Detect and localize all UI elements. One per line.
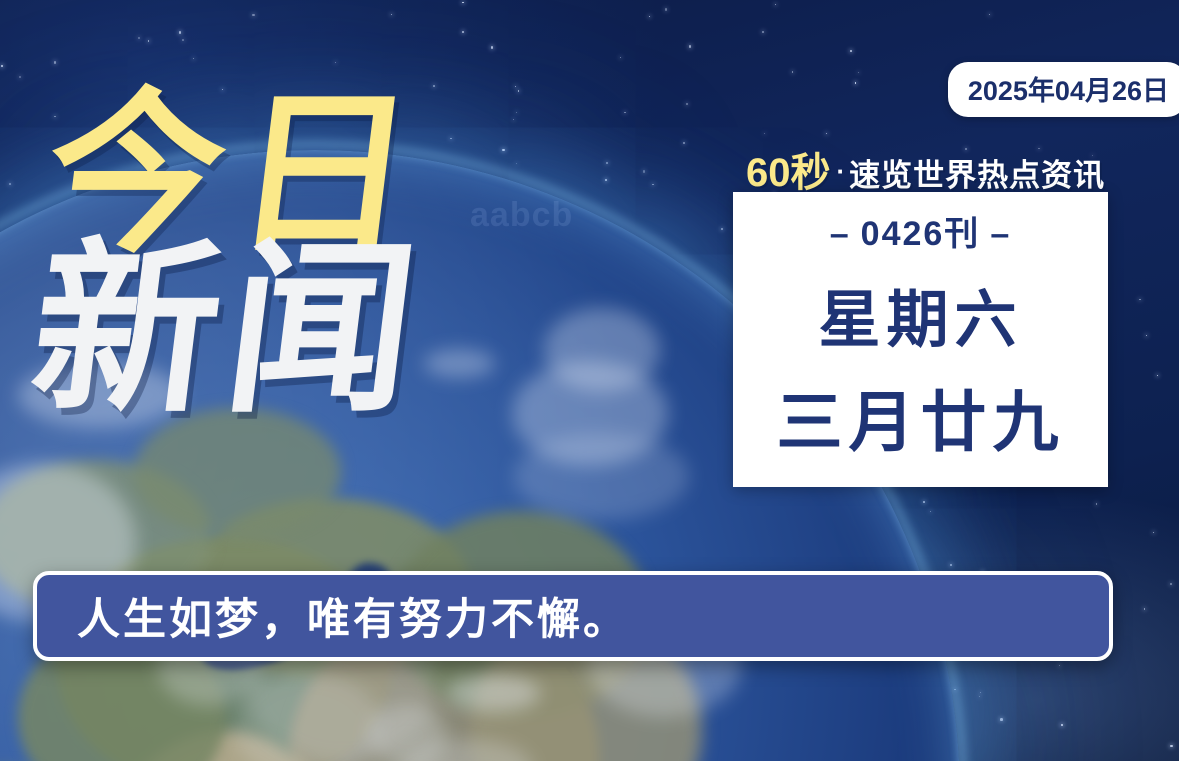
date-badge: 2025年04月26日 <box>948 62 1179 117</box>
quote-text: 人生如梦，唯有努力不懈。 <box>77 585 629 647</box>
tagline: 60秒·速览世界热点资讯 <box>746 140 1105 198</box>
tagline-description: 速览世界热点资讯 <box>849 158 1105 193</box>
issue-dash-right: – <box>990 215 1011 253</box>
poster-canvas: aabcb 2025年04月26日 今日 新闻 60秒·速览世界热点资讯 –04… <box>0 0 1179 761</box>
quote-banner: 人生如梦，唯有努力不懈。 <box>33 571 1113 661</box>
tagline-seconds: 60秒 <box>746 151 831 195</box>
issue-number: 0426刊 <box>861 215 981 253</box>
page-title: 今日 新闻 <box>48 92 424 420</box>
lunar-date-label: 三月廿九 <box>777 369 1065 465</box>
title-line-news: 新闻 <box>23 243 435 420</box>
issue-number-row: –0426刊– <box>820 206 1021 255</box>
watermark-text: aabcb <box>470 196 573 235</box>
tagline-separator-dot: · <box>837 156 846 186</box>
issue-dash-left: – <box>830 215 851 253</box>
issue-card: –0426刊– 星期六 三月廿九 <box>733 192 1108 487</box>
weekday-label: 星期六 <box>818 269 1022 359</box>
